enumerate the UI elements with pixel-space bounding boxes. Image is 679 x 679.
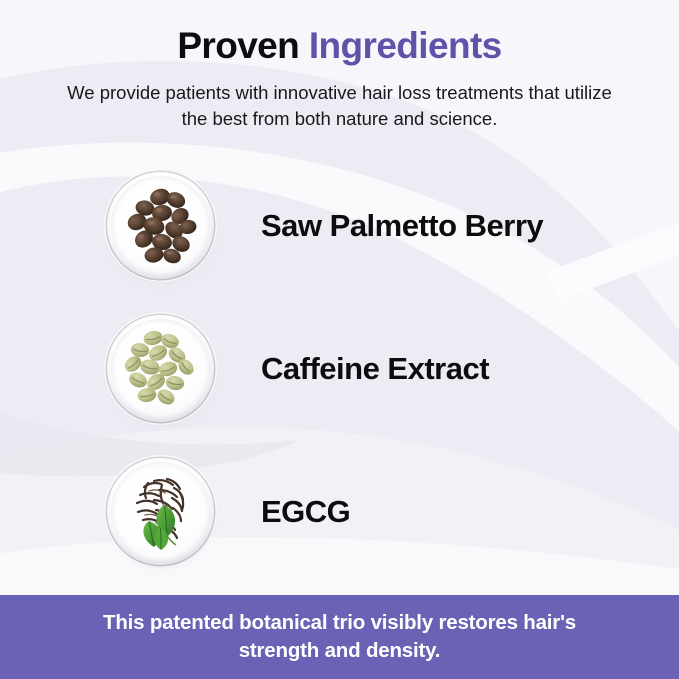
green-tea-leaves-in-petri-dish bbox=[104, 455, 217, 568]
tea-leaves-graphic bbox=[104, 455, 217, 568]
ingredients-infographic: Proven Ingredients We provide patients w… bbox=[0, 0, 679, 679]
ingredient-label: Caffeine Extract bbox=[261, 351, 489, 387]
list-item: Saw Palmetto Berry bbox=[0, 154, 679, 297]
coffee-beans-graphic bbox=[104, 312, 217, 425]
footer-banner-text: This patented botanical trio visibly res… bbox=[0, 609, 679, 664]
page-title: Proven Ingredients bbox=[0, 26, 679, 67]
ingredient-label: Saw Palmetto Berry bbox=[261, 208, 543, 244]
page-subtitle: We provide patients with innovative hair… bbox=[0, 80, 679, 133]
list-item: EGCG bbox=[0, 440, 679, 583]
berries-graphic bbox=[104, 169, 217, 282]
footer-banner: This patented botanical trio visibly res… bbox=[0, 595, 679, 679]
header-block: Proven Ingredients We provide patients w… bbox=[0, 0, 679, 132]
ingredient-label: EGCG bbox=[261, 494, 350, 530]
saw-palmetto-berries-in-petri-dish bbox=[104, 169, 217, 282]
ingredient-list: Saw Palmetto Berry bbox=[0, 154, 679, 583]
page-title-part-two: Ingredients bbox=[309, 25, 502, 66]
green-coffee-beans-in-petri-dish bbox=[104, 312, 217, 425]
list-item: Caffeine Extract bbox=[0, 297, 679, 440]
page-title-part-one: Proven bbox=[177, 25, 309, 66]
